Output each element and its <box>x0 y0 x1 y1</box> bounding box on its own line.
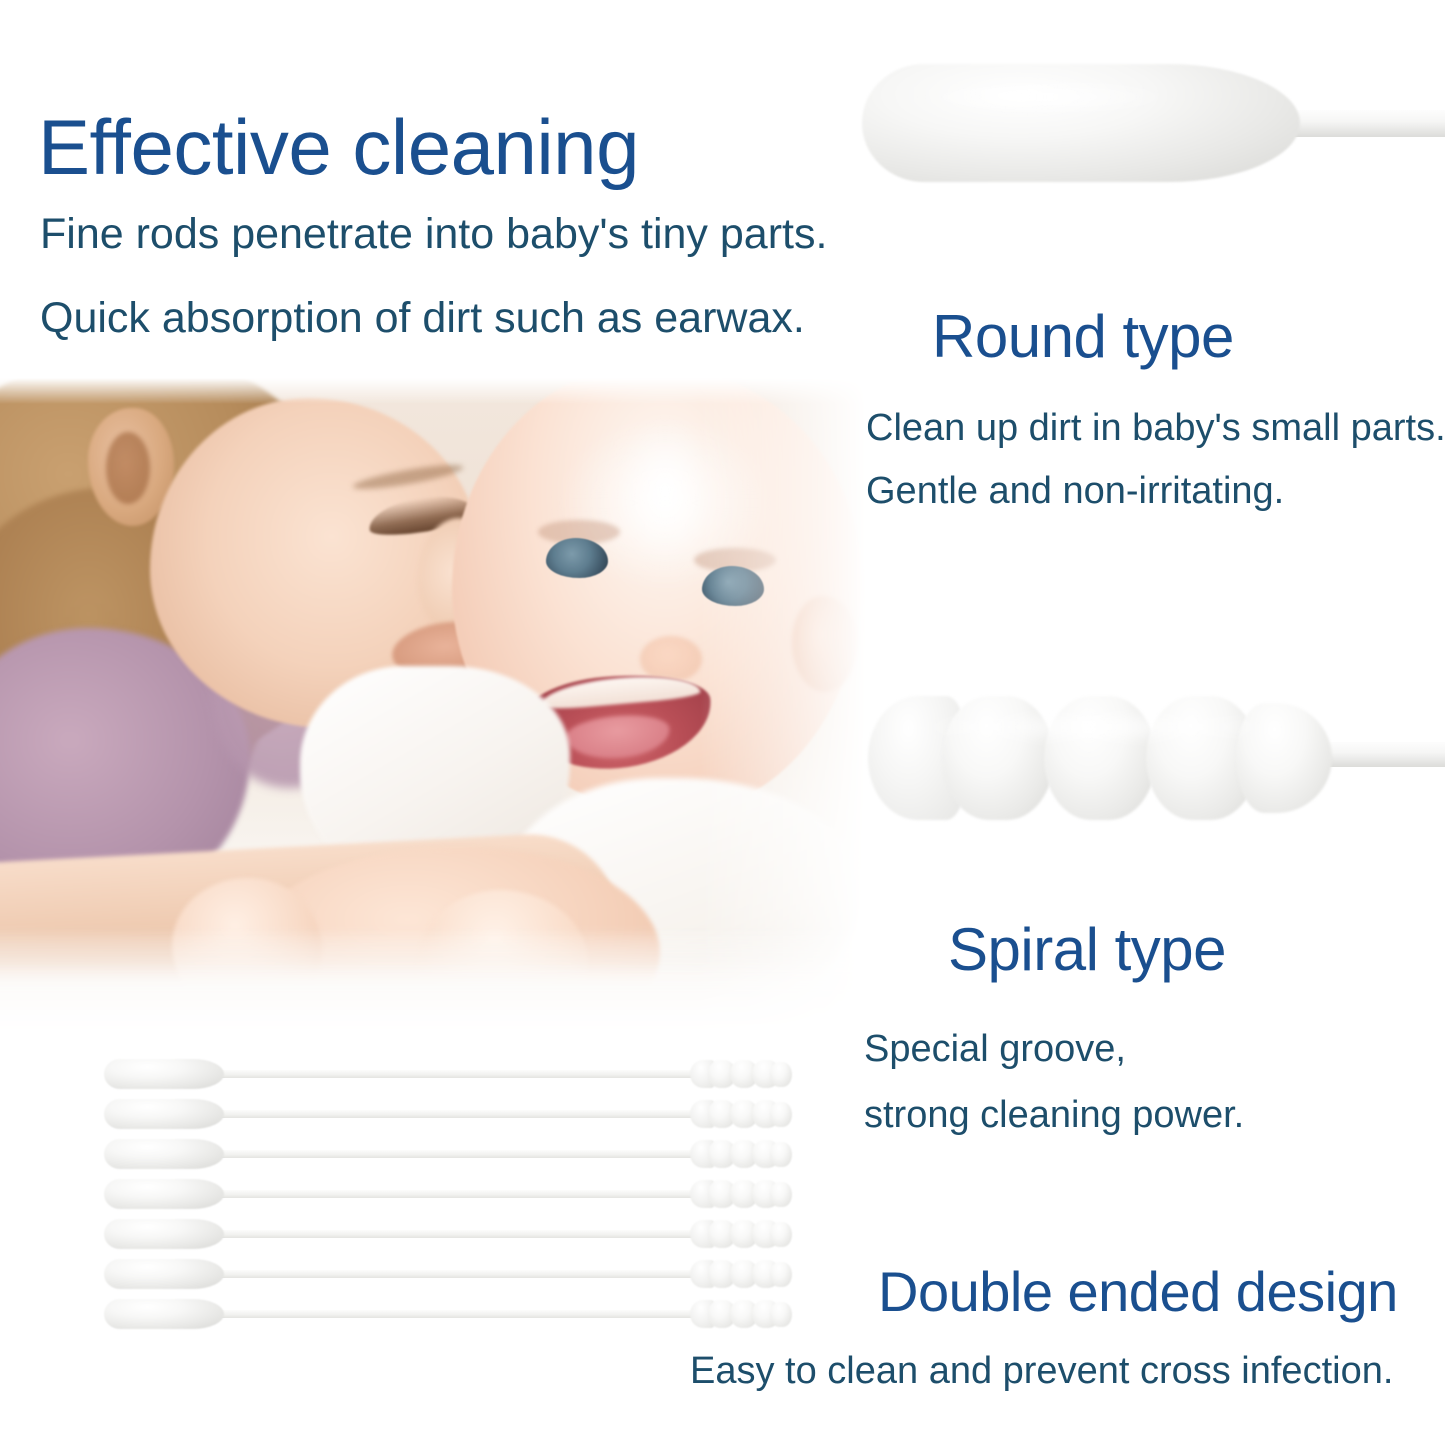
double-ended-swab-array <box>104 1054 776 1334</box>
swab-stick <box>170 1270 710 1278</box>
swab-stick <box>170 1150 710 1158</box>
round-swab-head <box>104 1179 224 1209</box>
swab-stick <box>1284 110 1445 137</box>
swab-stick <box>170 1310 710 1318</box>
round-swab-head <box>104 1299 224 1329</box>
spiral-tip-swab-illustration <box>868 684 1445 836</box>
swab-stick <box>170 1070 710 1078</box>
text-quick-absorption: Quick absorption of dirt such as earwax. <box>40 297 805 340</box>
white-surface <box>0 934 868 1038</box>
spiral-ridge-4 <box>770 1182 792 1207</box>
spiral-ridge-4 <box>770 1142 792 1167</box>
swab-stick <box>170 1190 710 1198</box>
heading-spiral-type: Spiral type <box>948 920 1226 980</box>
round-swab-head <box>104 1219 224 1249</box>
spiral-ridge-4 <box>770 1222 792 1247</box>
double-ended-swab-item <box>104 1134 776 1174</box>
round-swab-head <box>104 1059 224 1089</box>
double-ended-swab-item <box>104 1214 776 1254</box>
round-swab-head <box>104 1139 224 1169</box>
spiral-ridge-4 <box>770 1262 792 1287</box>
round-swab-head <box>104 1259 224 1289</box>
round-swab-highlight <box>920 80 1170 114</box>
double-ended-swab-item <box>104 1054 776 1094</box>
spiral-ridge-4 <box>770 1062 792 1087</box>
double-ended-swab-item <box>104 1094 776 1134</box>
text-easy-to-clean: Easy to clean and prevent cross infectio… <box>690 1352 1393 1390</box>
baby-eye-right <box>702 566 764 606</box>
text-special-groove: Special groove, <box>864 1030 1126 1068</box>
round-swab-head <box>104 1099 224 1129</box>
text-clean-up-dirt: Clean up dirt in baby's small parts. <box>866 409 1445 447</box>
mother-ear-inner <box>106 432 150 504</box>
text-strong-cleaning-power: strong cleaning power. <box>864 1096 1244 1134</box>
swab-stick <box>170 1230 710 1238</box>
baby-eye-left <box>546 538 608 578</box>
round-tip-swab-illustration <box>862 56 1445 192</box>
heading-double-ended-design: Double ended design <box>878 1264 1398 1320</box>
spiral-ridge-4 <box>770 1302 792 1327</box>
mother-kissing-baby-photo <box>0 378 868 1038</box>
double-ended-swab-item <box>104 1254 776 1294</box>
spiral-ridge-4 <box>770 1102 792 1127</box>
double-ended-swab-item <box>104 1174 776 1214</box>
double-ended-swab-item <box>104 1294 776 1334</box>
spiral-swab-highlight <box>908 712 1288 742</box>
swab-stick <box>170 1110 710 1118</box>
text-gentle-non-irritating: Gentle and non-irritating. <box>866 472 1284 510</box>
heading-round-type: Round type <box>932 307 1234 367</box>
text-fine-rods: Fine rods penetrate into baby's tiny par… <box>40 213 827 256</box>
heading-effective-cleaning: Effective cleaning <box>38 108 639 186</box>
baby-nose <box>640 636 702 682</box>
product-feature-graphic: Effective cleaning Fine rods penetrate i… <box>0 0 1445 1445</box>
